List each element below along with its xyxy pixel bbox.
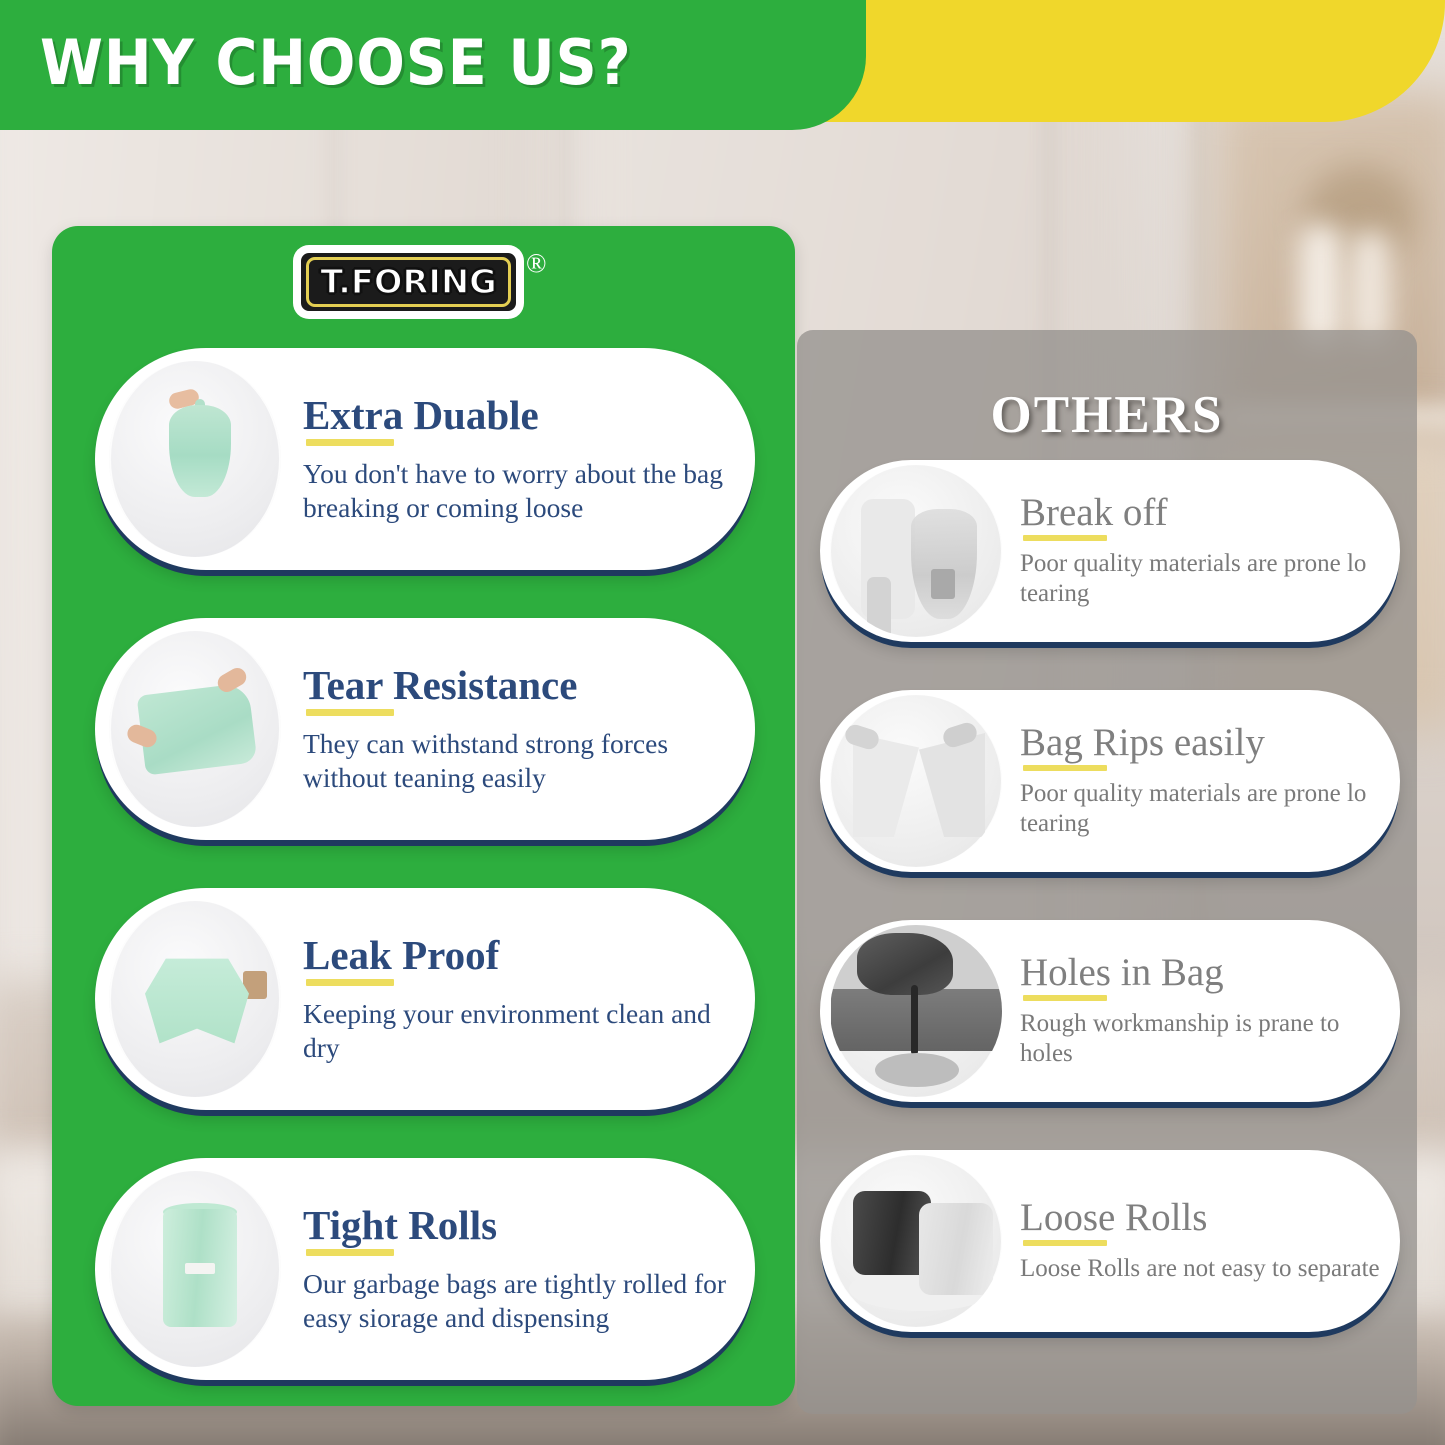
- feature-card[interactable]: Extra Duable You don't have to worry abo…: [95, 348, 755, 570]
- feature-description: They can withstand strong forces without…: [303, 727, 739, 795]
- feature-title: Tear Resistance: [303, 664, 739, 706]
- feature-card[interactable]: Leak Proof Keeping your environment clea…: [95, 888, 755, 1110]
- drawback-title: Loose Rolls: [1020, 1198, 1384, 1238]
- drawback-title: Break off: [1020, 493, 1384, 533]
- black-bag-shape: [857, 933, 953, 995]
- drawback-title: Bag Rips easily: [1020, 723, 1384, 763]
- green-bag-underside-icon: [111, 901, 279, 1097]
- logo-plate: T.FORING: [296, 248, 521, 316]
- bag-underside-shape: [145, 955, 249, 1047]
- feature-card[interactable]: Tight Rolls Our garbage bags are tightly…: [95, 1158, 755, 1380]
- drawback-text: Bag Rips easily Poor quality materials a…: [1002, 723, 1400, 839]
- torn-right-shape: [919, 733, 985, 837]
- drawback-description: Poor quality materials are prone lo tear…: [1020, 779, 1384, 839]
- feature-title: Extra Duable: [303, 394, 739, 436]
- hands-stretching-compostable-sheet-icon: [111, 631, 279, 827]
- roll-label-shape: [185, 1263, 215, 1274]
- title-underline: [1023, 1240, 1107, 1246]
- title-underline: [306, 1249, 394, 1256]
- feature-title: Leak Proof: [303, 934, 739, 976]
- feature-text: Tight Rolls Our garbage bags are tightly…: [281, 1204, 755, 1335]
- hand-holding-green-bag-icon: [111, 361, 279, 557]
- bag-body-shape: [169, 405, 231, 497]
- background-vase-left: [1300, 225, 1342, 345]
- drawback-description: Poor quality materials are prone lo tear…: [1020, 549, 1384, 609]
- drawback-thumbnail: [830, 1155, 1002, 1327]
- bag-leaking-liquid-icon: [831, 925, 1001, 1097]
- others-heading: OTHERS: [797, 385, 1417, 445]
- feature-thumbnail: [109, 1171, 281, 1367]
- title-underline: [306, 439, 394, 446]
- two-loose-rolls-icon: [831, 1155, 1001, 1327]
- drawback-text: Break off Poor quality materials are pro…: [1002, 493, 1400, 609]
- plastic-sack-shape: [911, 509, 977, 619]
- feature-card[interactable]: Tear Resistance They can withstand stron…: [95, 618, 755, 840]
- person-carrying-torn-bag-icon: [831, 465, 1001, 637]
- feature-description: Our garbage bags are tightly rolled for …: [303, 1267, 739, 1335]
- drawback-card[interactable]: Holes in Bag Rough workmanship is prane …: [820, 920, 1400, 1102]
- registered-trademark-icon: ®: [526, 250, 547, 277]
- drawback-card[interactable]: Loose Rolls Loose Rolls are not easy to …: [820, 1150, 1400, 1332]
- sack-contents-shape: [931, 569, 955, 599]
- drawback-description: Loose Rolls are not easy to separate: [1020, 1254, 1384, 1284]
- drawback-thumbnail: [830, 925, 1002, 1097]
- drawback-text: Holes in Bag Rough workmanship is prane …: [1002, 953, 1400, 1069]
- liquid-drip-shape: [911, 985, 918, 1055]
- title-underline: [1023, 535, 1107, 541]
- title-underline: [306, 979, 394, 986]
- feature-text: Leak Proof Keeping your environment clea…: [281, 934, 755, 1065]
- feature-text: Extra Duable You don't have to worry abo…: [281, 394, 755, 525]
- feature-description: You don't have to worry about the bag br…: [303, 457, 739, 525]
- drawback-card[interactable]: Bag Rips easily Poor quality materials a…: [820, 690, 1400, 872]
- title-underline: [1023, 995, 1107, 1001]
- title-underline: [306, 709, 394, 716]
- drawback-text: Loose Rolls Loose Rolls are not easy to …: [1002, 1198, 1400, 1284]
- leg-shape: [867, 577, 891, 637]
- page-title: WHY CHOOSE US?: [40, 26, 632, 99]
- feature-thumbnail: [109, 361, 281, 557]
- drawback-thumbnail: [830, 465, 1002, 637]
- bowl-shape: [875, 1053, 959, 1087]
- bag-sheet-shape: [137, 682, 258, 775]
- logo-wordmark: T.FORING: [320, 265, 496, 298]
- drawback-description: Rough workmanship is prane to holes: [1020, 1009, 1384, 1069]
- feature-thumbnail: [109, 901, 281, 1097]
- drawback-title: Holes in Bag: [1020, 953, 1384, 993]
- green-roll-shape: [919, 1203, 993, 1295]
- background-vase-right: [1350, 232, 1390, 344]
- tight-green-roll-icon: [111, 1171, 279, 1367]
- title-underline: [1023, 765, 1107, 771]
- brand-logo: T.FORING ®: [296, 248, 547, 316]
- logo-inner-frame: T.FORING: [306, 257, 511, 307]
- drawback-thumbnail: [830, 695, 1002, 867]
- feature-text: Tear Resistance They can withstand stron…: [281, 664, 755, 795]
- feature-title: Tight Rolls: [303, 1204, 739, 1246]
- feature-thumbnail: [109, 631, 281, 827]
- drawback-card[interactable]: Break off Poor quality materials are pro…: [820, 460, 1400, 642]
- feature-description: Keeping your environment clean and dry: [303, 997, 739, 1065]
- torn-left-shape: [853, 733, 919, 837]
- hands-ripping-white-bag-icon: [831, 695, 1001, 867]
